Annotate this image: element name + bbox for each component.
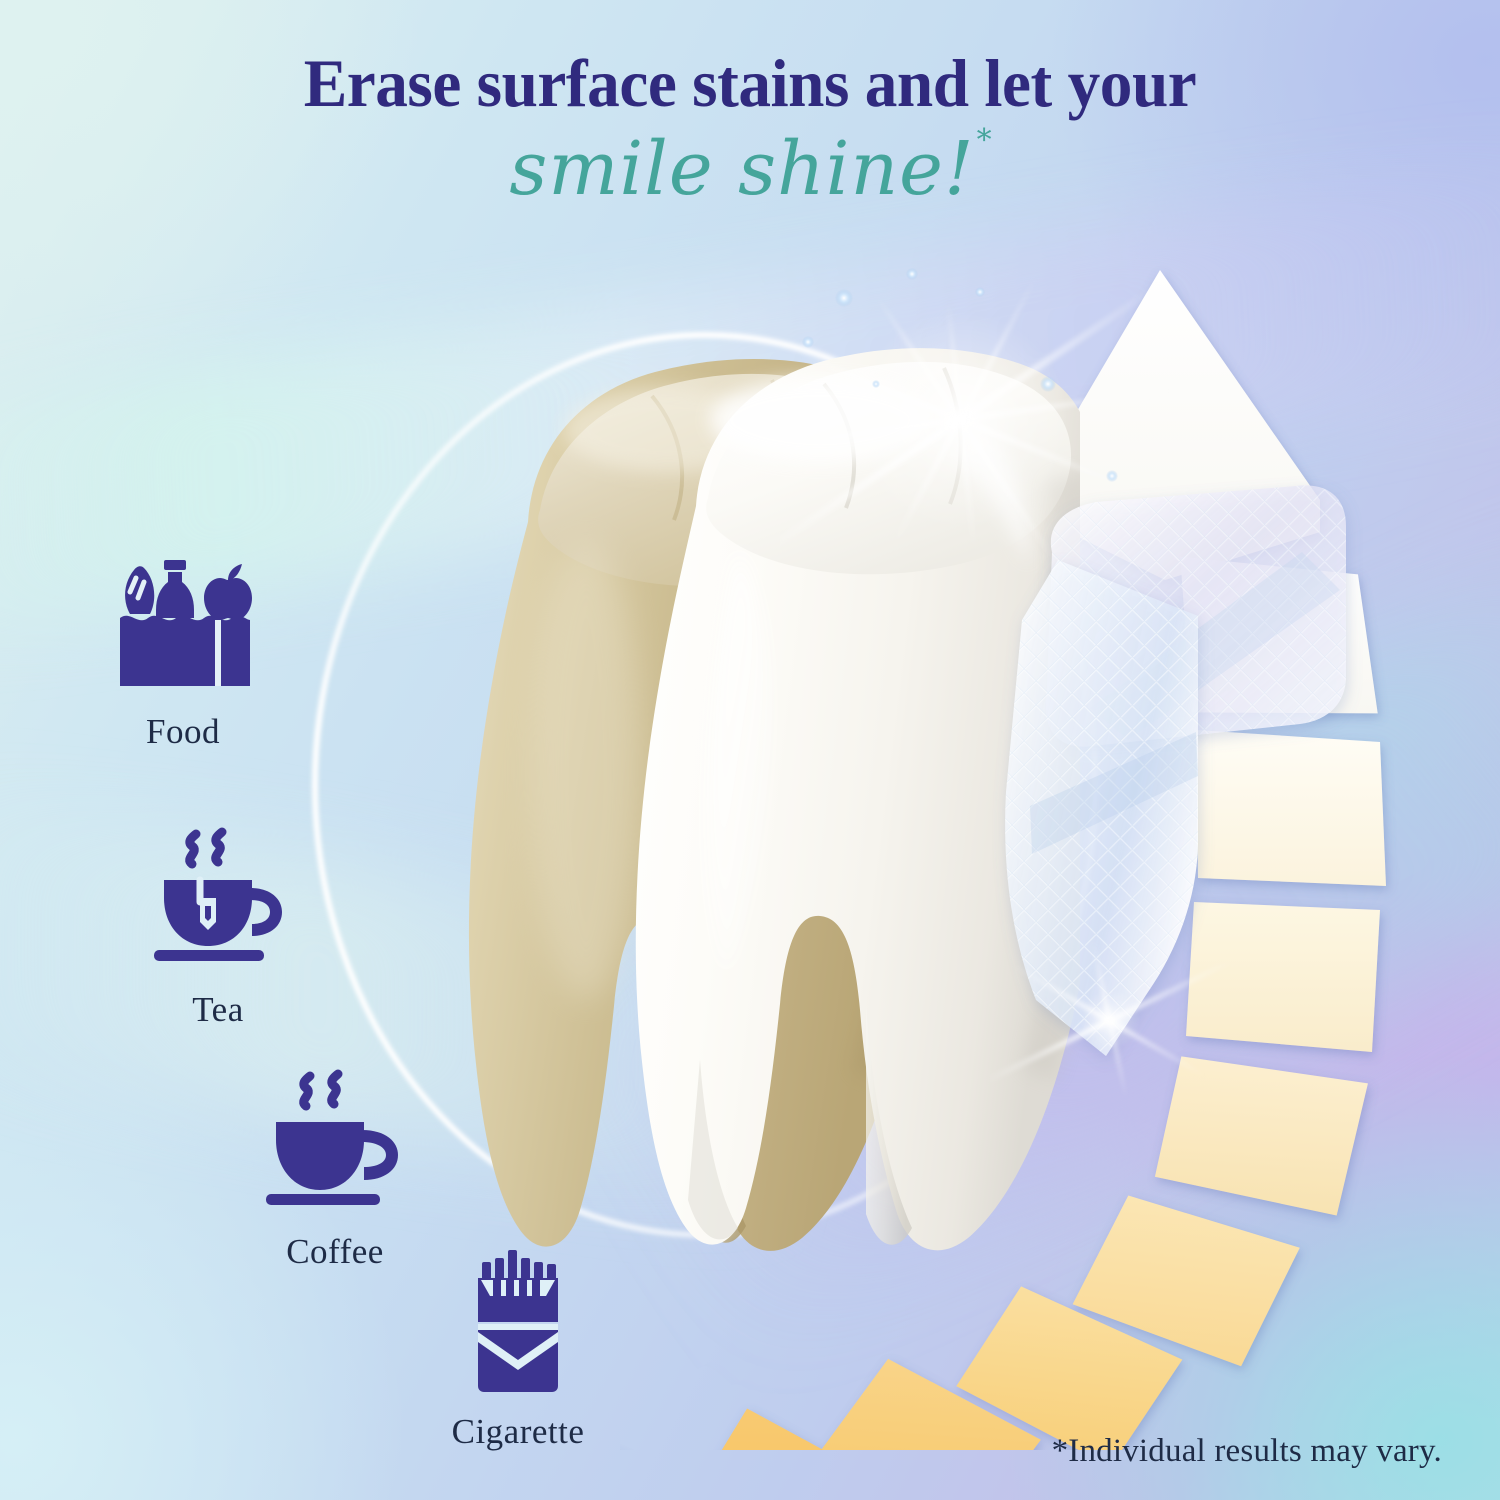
teacup-icon bbox=[148, 826, 288, 976]
whitening-strip bbox=[940, 440, 1380, 1080]
footnote-disclaimer: *Individual results may vary. bbox=[1052, 1433, 1442, 1470]
coffee-cup-icon bbox=[262, 1068, 408, 1218]
headline-asterisk: * bbox=[977, 123, 993, 158]
headline-block: Erase surface stains and let your smile … bbox=[0, 48, 1500, 210]
headline-secondary-text: smile shine! bbox=[509, 126, 974, 212]
stain-source-food[interactable]: Food bbox=[78, 548, 288, 752]
stain-source-coffee[interactable]: Coffee bbox=[230, 1068, 440, 1272]
grocery-bag-icon bbox=[108, 548, 258, 698]
stain-source-label: Cigarette bbox=[408, 1412, 628, 1452]
stain-source-tea[interactable]: Tea bbox=[118, 826, 318, 1030]
product-marketing-image: Erase surface stains and let your smile … bbox=[0, 0, 1500, 1500]
stain-source-label: Tea bbox=[118, 990, 318, 1030]
cigarette-pack-icon bbox=[448, 1248, 588, 1398]
headline-secondary: smile shine!* bbox=[509, 129, 990, 210]
stain-source-label: Food bbox=[78, 712, 288, 752]
headline-primary: Erase surface stains and let your bbox=[30, 48, 1470, 119]
stain-source-cigarette[interactable]: Cigarette bbox=[408, 1248, 628, 1452]
